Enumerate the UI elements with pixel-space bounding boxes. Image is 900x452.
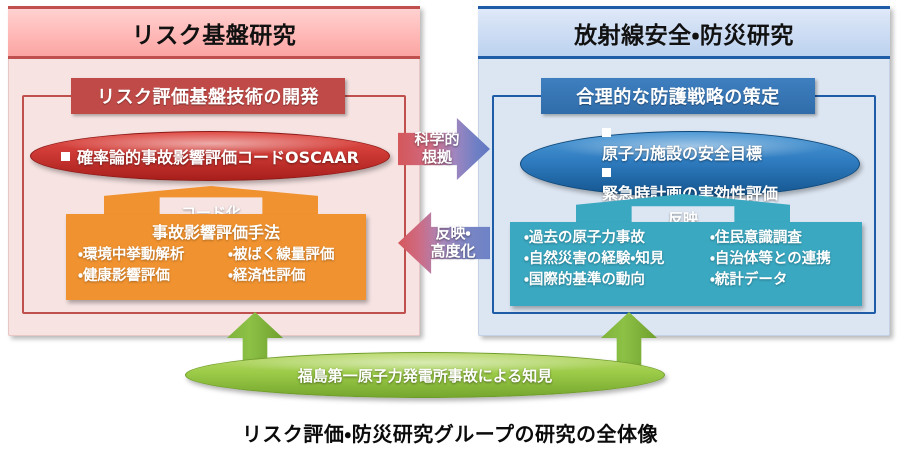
diagram-canvas: リスク基盤研究 リスク評価基盤技術の開発 確率論的事故影響評価コードOSCAAR… (0, 0, 900, 452)
right-panel-header: 放射線安全・防災研究 (478, 6, 890, 59)
accident-impact-method-box: 事故影響評価手法 ・環境中挙動解析 ・健康影響評価 ・被ばく線量評価 ・経済性評… (66, 214, 366, 300)
feedback-upgrade-line: 高度化 (430, 243, 475, 261)
scientific-basis-label: 科学的 根拠 (398, 122, 476, 176)
page-title: リスク評価・防災研究グループの研究の全体像 (0, 418, 900, 448)
oscaar-ellipse: 確率論的事故影響評価コードOSCAAR (30, 131, 390, 181)
right-group-title: 合理的な防護戦略の策定 (541, 78, 815, 114)
square-bullet-icon (602, 128, 611, 137)
right-panel-header-label: 放射線安全・防災研究 (574, 16, 794, 50)
knowledge-input-box: ・過去の原子力事故 ・自然災害の経験・知見 ・国際的基準の動向 ・住民意識調査 … (510, 222, 862, 306)
feedback-upgrade-label: 反映・ 高度化 (414, 216, 492, 270)
fukushima-knowledge-label: 福島第一原子力発電所事故による知見 (298, 365, 553, 386)
knowledge-input-columns: ・過去の原子力事故 ・自然災害の経験・知見 ・国際的基準の動向 ・住民意識調査 … (510, 228, 862, 291)
knowledge-column-right: ・住民意識調査 ・自治体等との連携 ・統計データ (710, 228, 831, 291)
scientific-basis-line: 根拠 (422, 149, 452, 167)
method-box-column-right: ・被ばく線量評価 ・経済性評価 (228, 245, 334, 287)
knowledge-column-left: ・過去の原子力事故 ・自然災害の経験・知見 ・国際的基準の動向 (524, 228, 710, 291)
list-item: ・統計データ (710, 270, 831, 291)
feedback-upgrade-line: 反映・ (435, 225, 470, 243)
right-group-title-label: 合理的な防護戦略の策定 (576, 83, 780, 109)
list-item: ・自然災害の経験・知見 (524, 249, 710, 270)
list-item: ・被ばく線量評価 (228, 245, 334, 266)
list-item: ・住民意識調査 (710, 228, 831, 249)
list-item: ・環境中挙動解析 (78, 245, 228, 266)
square-bullet-icon (602, 168, 611, 177)
list-item: ・自治体等との連携 (710, 249, 831, 270)
method-box-column-left: ・環境中挙動解析 ・健康影響評価 (78, 245, 228, 287)
list-item: ・過去の原子力事故 (524, 228, 710, 249)
list-item: ・健康影響評価 (78, 266, 228, 287)
left-group-title-label: リスク評価基盤技術の開発 (97, 83, 319, 109)
list-item: ・国際的基準の動向 (524, 270, 710, 291)
square-bullet-icon (61, 152, 70, 161)
oscaar-ellipse-label: 確率論的事故影響評価コードOSCAAR (77, 148, 359, 167)
protection-strategy-ellipse: 原子力施設の安全目標 緊急時計画の実効性評価 (520, 131, 860, 197)
protection-strategy-line: 原子力施設の安全目標 (602, 144, 778, 164)
scientific-basis-line: 科学的 (414, 131, 459, 149)
list-item: ・経済性評価 (228, 266, 334, 287)
fukushima-knowledge-ellipse: 福島第一原子力発電所事故による知見 (185, 352, 665, 398)
left-panel-header: リスク基盤研究 (8, 6, 420, 59)
left-panel-header-label: リスク基盤研究 (132, 16, 297, 50)
method-box-columns: ・環境中挙動解析 ・健康影響評価 ・被ばく線量評価 ・経済性評価 (66, 245, 366, 287)
method-box-title: 事故影響評価手法 (66, 219, 366, 243)
page-title-label: リスク評価・防災研究グループの研究の全体像 (242, 422, 658, 446)
left-group-title: リスク評価基盤技術の開発 (71, 78, 345, 114)
